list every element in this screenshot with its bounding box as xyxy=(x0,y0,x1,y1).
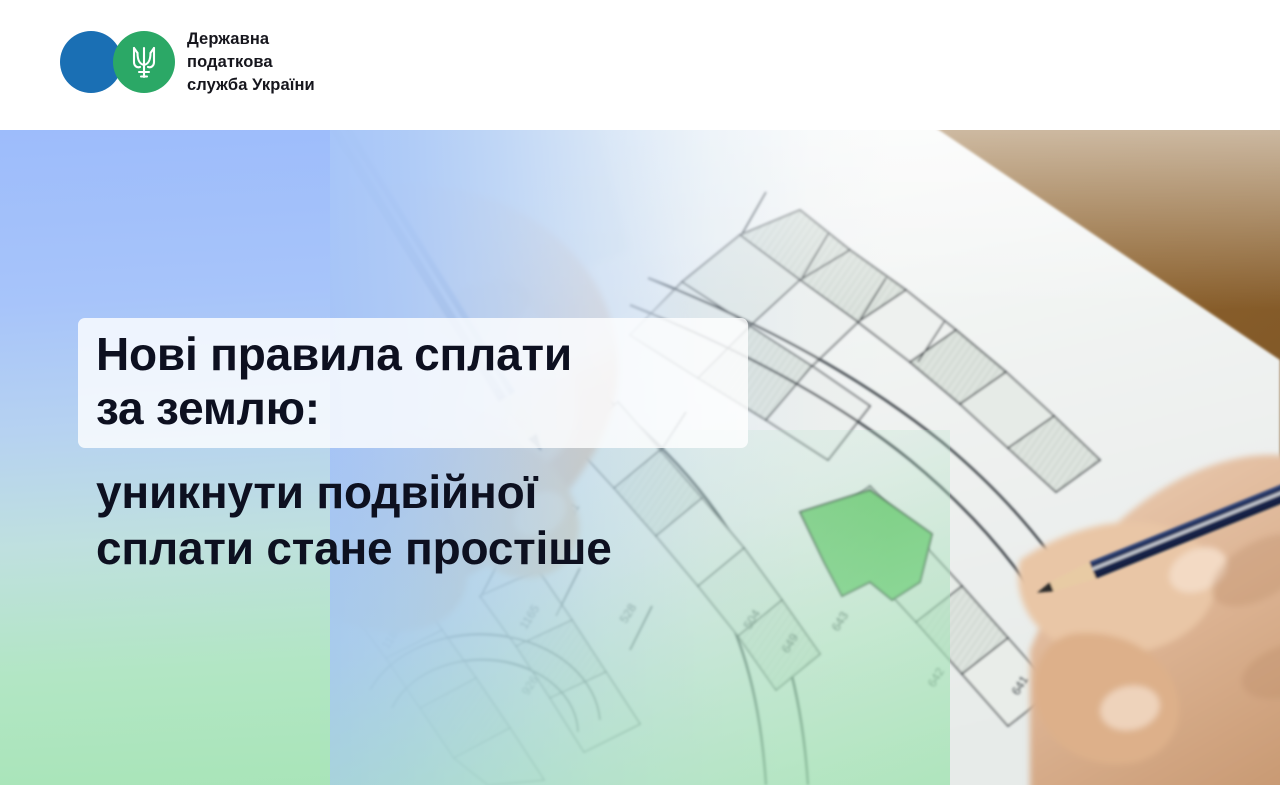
ukraine-trident-icon xyxy=(113,31,175,93)
organization-logo[interactable]: Державна податкова служба України xyxy=(60,28,315,96)
headline-secondary: уникнути подвійної сплати стане простіше xyxy=(96,464,796,576)
logo-marks xyxy=(60,28,180,96)
headline-primary: Нові правила сплати за землю: xyxy=(96,327,796,436)
hero-photo: 1189 1162 1161 1165 528 602 926 504 643 … xyxy=(330,130,1280,785)
site-header: Державна податкова служба України xyxy=(0,0,1280,130)
promo-banner: 1189 1162 1161 1165 528 602 926 504 643 … xyxy=(0,0,1280,785)
organization-name: Державна податкова служба України xyxy=(187,28,315,96)
